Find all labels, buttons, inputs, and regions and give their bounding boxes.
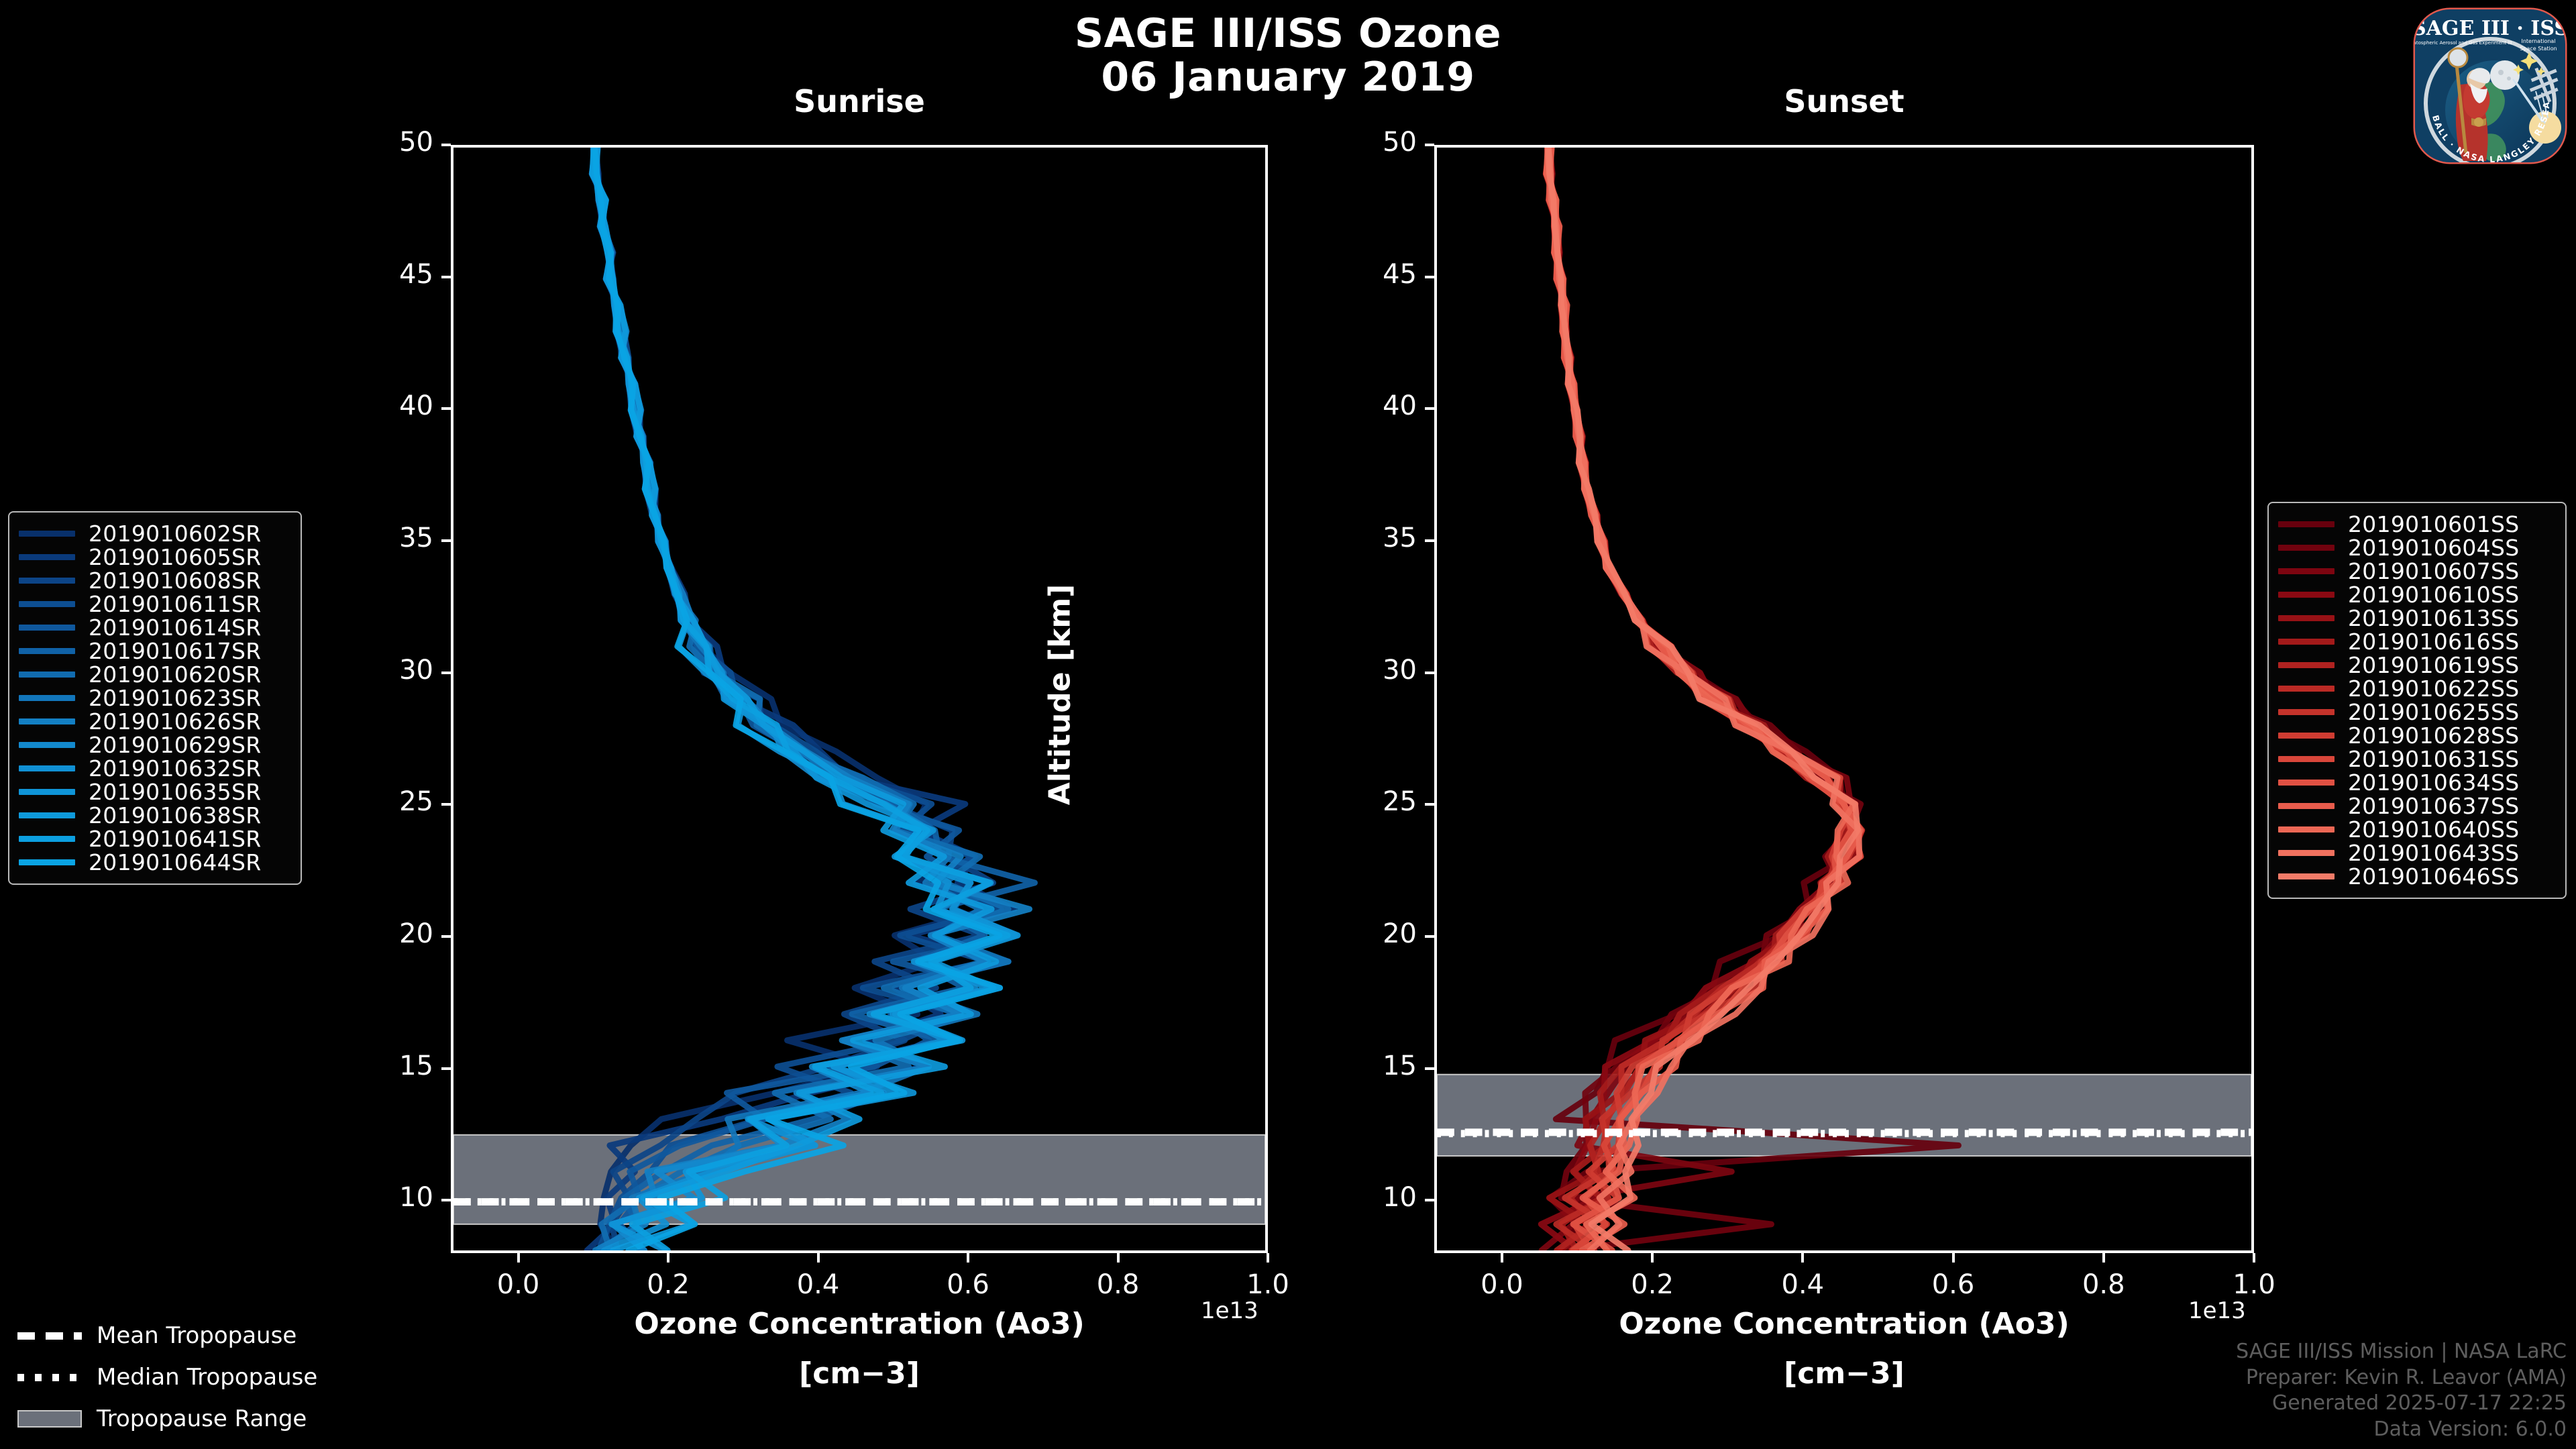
legend-item-label: 2019010643SS [2348, 840, 2519, 866]
y-tick-label: 30 [360, 655, 433, 686]
legend-item[interactable]: 2019010634SS [2278, 771, 2553, 794]
sunrise-legend[interactable]: 2019010602SR2019010605SR2019010608SR2019… [8, 511, 302, 885]
legend-color-swatch [2278, 545, 2334, 551]
legend-item[interactable]: 2019010626SR [19, 710, 288, 733]
legend-item-label: 2019010604SS [2348, 535, 2519, 561]
credit-line-2: Generated 2025-07-17 22:25 [2236, 1391, 2567, 1416]
legend-item-label: 2019010605SR [89, 544, 261, 570]
ozone-profile-line [594, 148, 1008, 1250]
ozone-profile-line [595, 148, 994, 1250]
legend-item[interactable]: 2019010611SR [19, 592, 288, 616]
y-tick-mark [1425, 935, 1434, 938]
sunset-profiles-svg [1437, 148, 2251, 1250]
x-tick-label: 1.0 [2200, 1269, 2308, 1300]
x-tick-label: 0.2 [1599, 1269, 1706, 1300]
x-tick-label: 0.2 [614, 1269, 722, 1300]
sunrise-profiles-svg [453, 148, 1265, 1250]
legend-item[interactable]: 2019010646SS [2278, 865, 2553, 888]
y-tick-label: 20 [360, 918, 433, 949]
legend-color-swatch [2278, 780, 2334, 786]
legend-color-swatch [19, 695, 75, 701]
y-tick-mark [441, 1199, 451, 1201]
legend-color-swatch [19, 672, 75, 678]
x-axis-offset-left: 1e13 [1201, 1297, 1258, 1324]
legend-item[interactable]: 2019010614SR [19, 616, 288, 639]
sunset-plot-area[interactable] [1434, 145, 2254, 1253]
legend-item[interactable]: 2019010601SS [2278, 513, 2553, 536]
legend-item[interactable]: 2019010641SR [19, 827, 288, 851]
y-tick-label: 10 [1343, 1182, 1417, 1213]
y-tick-mark [441, 539, 451, 542]
y-tick-mark [441, 407, 451, 410]
x-tick-mark [967, 1253, 969, 1263]
legend-color-swatch [19, 648, 75, 654]
legend-item[interactable]: 2019010604SS [2278, 536, 2553, 559]
x-axis-offset-right: 1e13 [2188, 1297, 2246, 1324]
y-tick-label: 15 [360, 1051, 433, 1081]
x-tick-label: 0.0 [1448, 1269, 1556, 1300]
y-tick-mark [1425, 144, 1434, 146]
y-tick-label: 45 [1343, 259, 1417, 290]
tropopause-legend-mean[interactable]: Mean Tropopause [17, 1315, 317, 1356]
legend-item[interactable]: 2019010635SR [19, 780, 288, 804]
legend-item-label: 2019010608SR [89, 568, 261, 594]
x-tick-mark [2102, 1253, 2105, 1263]
legend-item-label: 2019010637SS [2348, 793, 2519, 819]
x-tick-label: 0.6 [914, 1269, 1022, 1300]
legend-item[interactable]: 2019010640SS [2278, 818, 2553, 841]
legend-item[interactable]: 2019010638SR [19, 804, 288, 827]
legend-item[interactable]: 2019010617SR [19, 639, 288, 663]
legend-item[interactable]: 2019010613SS [2278, 606, 2553, 630]
x-tick-label: 0.8 [2050, 1269, 2157, 1300]
x-tick-mark [517, 1253, 520, 1263]
legend-item[interactable]: 2019010610SS [2278, 583, 2553, 606]
legend-color-swatch [2278, 803, 2334, 809]
legend-color-swatch [19, 859, 75, 865]
y-tick-mark [1425, 803, 1434, 806]
legend-item[interactable]: 2019010643SS [2278, 841, 2553, 865]
legend-item[interactable]: 2019010632SR [19, 757, 288, 780]
legend-item-label: 2019010629SR [89, 732, 261, 758]
legend-item[interactable]: 2019010623SR [19, 686, 288, 710]
x-axis-label-right-line1: Ozone Concentration (Ao3) [1434, 1307, 2254, 1341]
x-axis-unit-left: [cm−3] [799, 1356, 920, 1391]
y-tick-mark [1425, 539, 1434, 542]
legend-color-swatch [2278, 615, 2334, 621]
x-tick-label: 0.8 [1065, 1269, 1172, 1300]
y-tick-mark [1425, 1067, 1434, 1070]
credits-block: SAGE III/ISS Mission | NASA LaRC Prepare… [2236, 1339, 2567, 1442]
legend-item[interactable]: 2019010619SS [2278, 653, 2553, 677]
legend-item-label: 2019010626SR [89, 708, 261, 735]
legend-color-swatch [19, 718, 75, 724]
legend-item-label: 2019010610SS [2348, 582, 2519, 608]
legend-color-swatch [2278, 592, 2334, 598]
y-tick-label: 30 [1343, 655, 1417, 686]
sage-iii-iss-logo: SAGE III · ISS Stratospheric Aerosol and… [2411, 3, 2569, 165]
legend-item[interactable]: 2019010631SS [2278, 747, 2553, 771]
legend-color-swatch [2278, 826, 2334, 833]
legend-color-swatch [19, 765, 75, 771]
legend-color-swatch [2278, 521, 2334, 527]
legend-item-label: 2019010644SR [89, 849, 261, 875]
y-tick-mark [441, 144, 451, 146]
legend-item[interactable]: 2019010608SR [19, 569, 288, 592]
legend-item-label: 2019010620SR [89, 661, 261, 688]
x-axis-label-left-line2: [cm−3] [451, 1356, 1268, 1391]
y-tick-label: 35 [360, 523, 433, 553]
legend-item-label: 2019010616SS [2348, 629, 2519, 655]
legend-color-swatch [2278, 568, 2334, 574]
median-tropopause-label: Median Tropopause [97, 1364, 317, 1391]
sunset-legend[interactable]: 2019010601SS2019010604SS2019010607SS2019… [2267, 502, 2567, 899]
legend-item[interactable]: 2019010620SR [19, 663, 288, 686]
credit-line-1: Preparer: Kevin R. Leavor (AMA) [2236, 1365, 2567, 1391]
legend-color-swatch [19, 554, 75, 560]
legend-item-label: 2019010638SR [89, 802, 261, 828]
legend-item[interactable]: 2019010605SR [19, 545, 288, 569]
y-tick-label: 25 [360, 786, 433, 817]
y-tick-mark [441, 935, 451, 938]
legend-color-swatch [2278, 639, 2334, 645]
legend-item-label: 2019010617SR [89, 638, 261, 664]
y-tick-mark [1425, 407, 1434, 410]
y-tick-label: 20 [1343, 918, 1417, 949]
tropopause-range-band [453, 1135, 1265, 1224]
legend-item-label: 2019010623SR [89, 685, 261, 711]
legend-item-label: 2019010635SR [89, 779, 261, 805]
y-tick-mark [1425, 276, 1434, 278]
legend-item[interactable]: 2019010637SS [2278, 794, 2553, 818]
legend-color-swatch [19, 742, 75, 748]
y-tick-label: 50 [1343, 127, 1417, 158]
legend-item[interactable]: 2019010629SR [19, 733, 288, 757]
y-tick-label: 40 [1343, 390, 1417, 421]
y-tick-mark [441, 276, 451, 278]
legend-item-label: 2019010602SR [89, 521, 261, 547]
x-tick-label: 1.0 [1214, 1269, 1322, 1300]
y-tick-mark [1425, 1199, 1434, 1201]
legend-item-label: 2019010607SS [2348, 558, 2519, 584]
legend-item-label: 2019010628SS [2348, 722, 2519, 749]
x-tick-mark [1117, 1253, 1120, 1263]
tropopause-legend-range[interactable]: Tropopause Range [17, 1398, 317, 1440]
legend-color-swatch [19, 625, 75, 631]
credit-line-3: Data Version: 6.0.0 [2236, 1417, 2567, 1442]
legend-item-label: 2019010619SS [2348, 652, 2519, 678]
y-tick-label: 40 [360, 390, 433, 421]
y-tick-label: 25 [1343, 786, 1417, 817]
legend-item[interactable]: 2019010616SS [2278, 630, 2553, 653]
x-tick-mark [1267, 1253, 1269, 1263]
y-axis-label-right: Altitude [km] [1043, 574, 1077, 816]
y-tick-label: 10 [360, 1182, 433, 1213]
y-tick-mark [1425, 672, 1434, 674]
y-tick-label: 50 [360, 127, 433, 158]
legend-color-swatch [2278, 756, 2334, 762]
legend-item-label: 2019010640SS [2348, 816, 2519, 843]
legend-item-label: 2019010632SR [89, 755, 261, 782]
tropopause-legend[interactable]: Mean Tropopause Median Tropopause Tropop… [17, 1315, 317, 1440]
legend-item-label: 2019010622SS [2348, 676, 2519, 702]
logo-title: SAGE III · ISS [2412, 17, 2569, 40]
legend-item[interactable]: 2019010607SS [2278, 559, 2553, 583]
mean-tropopause-label: Mean Tropopause [97, 1322, 297, 1349]
legend-item[interactable]: 2019010622SS [2278, 677, 2553, 700]
legend-item-label: 2019010634SS [2348, 769, 2519, 796]
sunrise-plot-area[interactable] [451, 145, 1268, 1253]
median-tropopause-dot-key [17, 1368, 82, 1386]
legend-color-swatch [19, 836, 75, 842]
legend-color-swatch [2278, 850, 2334, 856]
legend-color-swatch [19, 789, 75, 795]
x-tick-mark [667, 1253, 669, 1263]
y-tick-mark [441, 672, 451, 674]
legend-color-swatch [2278, 686, 2334, 692]
logo-subtitle-left: Stratospheric Aerosol and Gas Experiment… [2411, 40, 2512, 46]
legend-color-swatch [2278, 733, 2334, 739]
y-tick-label: 15 [1343, 1051, 1417, 1081]
x-tick-mark [1801, 1253, 1804, 1263]
legend-item-label: 2019010614SR [89, 614, 261, 641]
legend-item-label: 2019010601SS [2348, 511, 2519, 537]
tropopause-range-label: Tropopause Range [97, 1405, 307, 1432]
logo-subtitle-right-1: International [2521, 38, 2555, 44]
legend-item-label: 2019010611SR [89, 591, 261, 617]
mean-tropopause-dash-key [17, 1327, 82, 1344]
legend-color-swatch [19, 531, 75, 537]
legend-color-swatch [2278, 873, 2334, 879]
panel-title-sunset: Sunset [1434, 83, 2254, 119]
x-tick-mark [2253, 1253, 2255, 1263]
credit-line-0: SAGE III/ISS Mission | NASA LaRC [2236, 1339, 2567, 1364]
x-tick-mark [1501, 1253, 1503, 1263]
x-tick-label: 0.0 [465, 1269, 572, 1300]
x-tick-mark [1952, 1253, 1955, 1263]
legend-item-label: 2019010613SS [2348, 605, 2519, 631]
title-line-1: SAGE III/ISS Ozone [0, 12, 2576, 56]
legend-color-swatch [2278, 662, 2334, 668]
ozone-profile-line [595, 148, 988, 1250]
legend-color-swatch [19, 601, 75, 607]
y-tick-label: 45 [360, 259, 433, 290]
x-axis-unit-right: [cm−3] [1784, 1356, 1904, 1391]
x-tick-label: 0.6 [1900, 1269, 2007, 1300]
x-tick-label: 0.4 [1749, 1269, 1856, 1300]
legend-item-label: 2019010631SS [2348, 746, 2519, 772]
legend-item[interactable]: 2019010625SS [2278, 700, 2553, 724]
y-tick-mark [441, 803, 451, 806]
legend-item[interactable]: 2019010602SR [19, 522, 288, 545]
panel-title-sunrise: Sunrise [451, 83, 1268, 119]
x-tick-mark [817, 1253, 820, 1263]
y-tick-mark [441, 1067, 451, 1070]
legend-item[interactable]: 2019010644SR [19, 851, 288, 874]
legend-color-swatch [2278, 709, 2334, 715]
legend-color-swatch [19, 812, 75, 818]
y-tick-label: 35 [1343, 523, 1417, 553]
legend-item-label: 2019010646SS [2348, 863, 2519, 890]
x-axis-label-left-line1: Ozone Concentration (Ao3) [451, 1307, 1268, 1341]
tropopause-legend-median[interactable]: Median Tropopause [17, 1356, 317, 1398]
x-axis-label-right-line2: [cm−3] [1434, 1356, 2254, 1391]
legend-item-label: 2019010641SR [89, 826, 261, 852]
legend-item-label: 2019010625SS [2348, 699, 2519, 725]
logo-subtitle-right-2: Space Station [2520, 46, 2557, 52]
legend-item[interactable]: 2019010628SS [2278, 724, 2553, 747]
x-tick-mark [1651, 1253, 1654, 1263]
x-tick-label: 0.4 [765, 1269, 872, 1300]
tropopause-range-patch-key [17, 1410, 82, 1428]
legend-color-swatch [19, 578, 75, 584]
